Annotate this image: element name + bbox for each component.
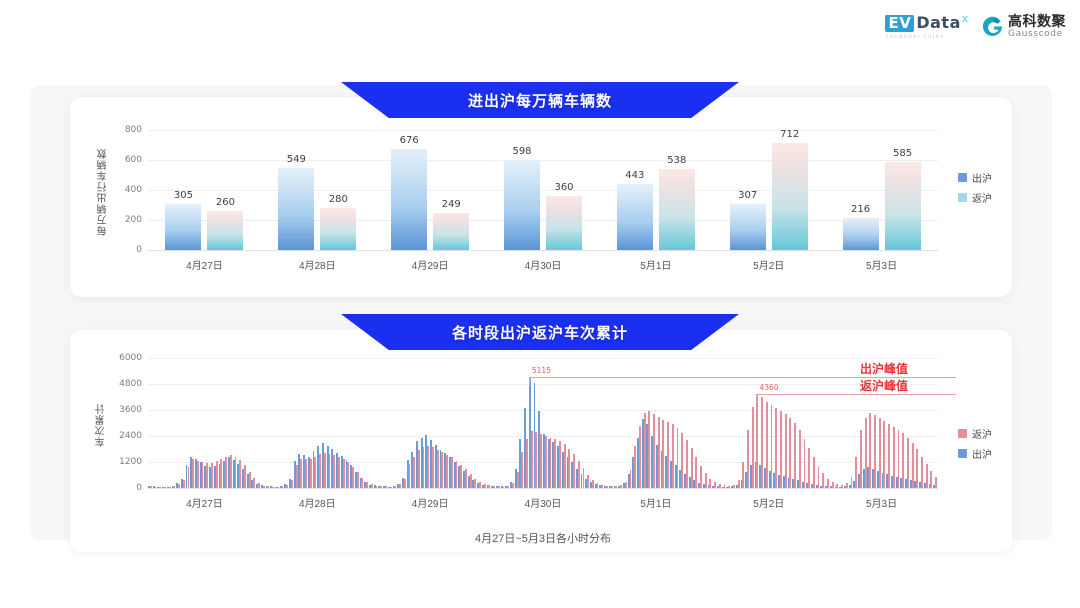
chart2-bar-back[interactable] bbox=[630, 470, 632, 488]
chart1-x-tick-label: 4月28日 bbox=[299, 257, 336, 272]
chart2-bar-back[interactable] bbox=[324, 453, 326, 488]
chart1-title-banner: 进出沪每万辆车辆数 bbox=[341, 82, 739, 118]
chart2-bar-back[interactable] bbox=[296, 465, 298, 488]
chart1-x-tick-label: 5月3日 bbox=[866, 257, 897, 272]
chart2-bar-back[interactable] bbox=[409, 464, 411, 488]
chart2-y-axis-label: 车次累计 bbox=[94, 360, 109, 490]
chart2-bar-back[interactable] bbox=[361, 478, 363, 488]
chart2-y-tick-label: 2400 bbox=[119, 431, 142, 441]
chart2-bar-back[interactable] bbox=[277, 487, 279, 488]
chart2-bar-back[interactable] bbox=[568, 449, 570, 488]
chart2-axis-baseline bbox=[148, 488, 938, 489]
chart2-bar-back[interactable] bbox=[357, 472, 359, 488]
chart1-axis-baseline bbox=[148, 250, 938, 251]
gausscode-name-en: Gausscode bbox=[1008, 30, 1066, 39]
chart2-bar-back[interactable] bbox=[432, 447, 434, 488]
chart2-bar-back[interactable] bbox=[691, 448, 693, 488]
chart1-bar[interactable]: 538 bbox=[659, 169, 695, 250]
chart1-y-tick-label: 400 bbox=[125, 185, 142, 195]
chart2-bar-back[interactable] bbox=[399, 484, 401, 488]
chart2-bar-back[interactable] bbox=[742, 462, 744, 488]
chart1-legend-swatch bbox=[958, 173, 967, 182]
chart2-bar-back[interactable] bbox=[211, 463, 213, 488]
chart2-bar-back[interactable] bbox=[441, 452, 443, 488]
chart2-bar-back[interactable] bbox=[550, 438, 552, 488]
chart1-bar[interactable]: 549 bbox=[278, 168, 314, 250]
chart2-bar-back[interactable] bbox=[916, 449, 918, 488]
gausscode-text: 高科数聚 Gausscode bbox=[1008, 14, 1066, 39]
chart1-gridline bbox=[148, 160, 938, 161]
chart2-bar-back[interactable] bbox=[427, 446, 429, 488]
chart1-bar[interactable]: 280 bbox=[320, 208, 356, 250]
chart2-bar-back[interactable] bbox=[413, 457, 415, 488]
chart2-bar-back[interactable] bbox=[512, 483, 514, 488]
chart2-bar-back[interactable] bbox=[930, 471, 932, 488]
chart2-legend-label: 出沪 bbox=[972, 446, 992, 461]
chart2-bar-back[interactable] bbox=[564, 444, 566, 488]
chart2-bar-back[interactable] bbox=[592, 480, 594, 488]
chart2-peak-label: 返沪峰值 bbox=[860, 377, 908, 394]
chart2-bar-back[interactable] bbox=[841, 485, 843, 488]
chart2-bar-back[interactable] bbox=[286, 485, 288, 488]
chart2-legend-item[interactable]: 出沪 bbox=[958, 446, 992, 461]
chart2-bar-back[interactable] bbox=[756, 394, 758, 488]
chart2-bar-back[interactable] bbox=[385, 486, 387, 488]
chart1-legend-label: 返沪 bbox=[972, 190, 992, 205]
chart2-bar-back[interactable] bbox=[634, 446, 636, 488]
chart2-bar-back[interactable] bbox=[474, 479, 476, 488]
chart2-bar-back[interactable] bbox=[615, 486, 617, 488]
chart2-x-tick-label: 4月30日 bbox=[525, 495, 562, 510]
chart2-bar-back[interactable] bbox=[709, 479, 711, 488]
chart1-bar-value-label: 216 bbox=[851, 204, 870, 215]
chart2-bar-back[interactable] bbox=[860, 430, 862, 488]
chart2-bar-back[interactable] bbox=[404, 479, 406, 488]
evdata-logo-subtitle: SHANGHAI CHINA bbox=[885, 34, 944, 39]
chart2-bar-back[interactable] bbox=[380, 486, 382, 488]
chart2-bar-back[interactable] bbox=[531, 431, 533, 488]
chart1-bar[interactable]: 598 bbox=[504, 160, 540, 250]
gausscode-name-cn: 高科数聚 bbox=[1008, 14, 1066, 28]
chart2-x-tick-label: 5月3日 bbox=[866, 495, 897, 510]
chart2-bar-back[interactable] bbox=[597, 483, 599, 488]
chart2-bar-back[interactable] bbox=[225, 457, 227, 488]
chart1-plot-area: 02004006008003052604月27日5492804月28日67624… bbox=[148, 130, 938, 250]
chart2-bar-back[interactable] bbox=[239, 460, 241, 488]
chart1-gridline bbox=[148, 220, 938, 221]
chart1-card: 02004006008003052604月27日5492804月28日67624… bbox=[70, 97, 1012, 297]
chart2-bar-back[interactable] bbox=[329, 454, 331, 488]
chart2-bar-back[interactable] bbox=[855, 457, 857, 488]
chart1-bar-value-label: 249 bbox=[442, 199, 461, 210]
chart2-bar-back[interactable] bbox=[879, 418, 881, 488]
chart1-legend-item[interactable]: 出沪 bbox=[958, 170, 992, 185]
chart2-bar-back[interactable] bbox=[639, 426, 641, 488]
chart1-bar[interactable]: 585 bbox=[885, 162, 921, 250]
chart2-title-banner: 各时段出沪返沪车次累计 bbox=[341, 314, 739, 350]
chart2-bar-back[interactable] bbox=[188, 467, 190, 488]
chart2-y-tick-label: 6000 bbox=[119, 353, 142, 363]
chart2-bar-back[interactable] bbox=[559, 441, 561, 488]
chart2-bar-back[interactable] bbox=[907, 438, 909, 488]
chart2-bar-back[interactable] bbox=[263, 486, 265, 488]
chart2-bar-back[interactable] bbox=[282, 486, 284, 488]
chart2-bar-back[interactable] bbox=[583, 468, 585, 488]
chart2-bar-back[interactable] bbox=[822, 473, 824, 488]
chart2-bar-back[interactable] bbox=[249, 472, 251, 488]
chart1-bar-value-label: 443 bbox=[625, 170, 644, 181]
chart2-bar-back[interactable] bbox=[347, 462, 349, 488]
evdata-logo-x-icon: x bbox=[962, 15, 968, 24]
chart2-bar-back[interactable] bbox=[253, 478, 255, 488]
chart1-gridline bbox=[148, 190, 938, 191]
chart2-bar-back[interactable] bbox=[446, 455, 448, 488]
chart1-x-tick-label: 5月2日 bbox=[753, 257, 784, 272]
chart2-bar-back[interactable] bbox=[902, 433, 904, 488]
chart2-y-tick-label: 0 bbox=[136, 483, 142, 493]
chart2-bar-back[interactable] bbox=[761, 397, 763, 488]
chart2-bar-back[interactable] bbox=[686, 440, 688, 488]
chart2-bar-back[interactable] bbox=[921, 457, 923, 488]
chart2-bar-back[interactable] bbox=[465, 469, 467, 488]
chart2-bar-back[interactable] bbox=[724, 485, 726, 488]
chart1-bar-value-label: 360 bbox=[554, 182, 573, 193]
chart2-bar-back[interactable] bbox=[507, 486, 509, 488]
chart1-x-tick-label: 5月1日 bbox=[640, 257, 671, 272]
chart2-bar-back[interactable] bbox=[470, 474, 472, 488]
chart2-bar-back[interactable] bbox=[343, 459, 345, 488]
chart2-bar-back[interactable] bbox=[865, 418, 867, 488]
chart2-peak-label: 出沪峰值 bbox=[860, 360, 908, 377]
chart2-bar-back[interactable] bbox=[818, 466, 820, 488]
chart2-bar-back[interactable] bbox=[780, 411, 782, 488]
chart2-bar-back[interactable] bbox=[728, 486, 730, 488]
chart2-peak-value: 4360 bbox=[759, 383, 778, 392]
chart2-bar-back[interactable] bbox=[766, 402, 768, 488]
chart2-bar-back[interactable] bbox=[672, 424, 674, 488]
chart2-bar-back[interactable] bbox=[620, 485, 622, 488]
chart1-bar[interactable]: 712 bbox=[772, 143, 808, 250]
chart2-bar-back[interactable] bbox=[503, 487, 505, 488]
chart2-bar-back[interactable] bbox=[460, 465, 462, 488]
chart2-bar-back[interactable] bbox=[874, 415, 876, 488]
chart2-bar-back[interactable] bbox=[808, 448, 810, 488]
chart2-legend-label: 返沪 bbox=[972, 426, 992, 441]
chart2-bar-back[interactable] bbox=[310, 459, 312, 488]
chart1-y-tick-label: 600 bbox=[125, 155, 142, 165]
chart2-bar-back[interactable] bbox=[244, 465, 246, 488]
chart2-bar-back[interactable] bbox=[695, 457, 697, 488]
chart1-bar-value-label: 585 bbox=[893, 148, 912, 159]
chart1-legend[interactable]: 出沪返沪 bbox=[958, 170, 992, 205]
chart2-bar-back[interactable] bbox=[164, 487, 166, 488]
chart2-bar-back[interactable] bbox=[926, 464, 928, 488]
chart2-bar-back[interactable] bbox=[554, 439, 556, 488]
chart1-x-tick-label: 4月27日 bbox=[186, 257, 223, 272]
chart2-bar-back[interactable] bbox=[498, 486, 500, 488]
chart2-bar-back[interactable] bbox=[898, 430, 900, 488]
chart2-bar-back[interactable] bbox=[159, 487, 161, 488]
chart2-bar-back[interactable] bbox=[893, 427, 895, 488]
chart2-bar-back[interactable] bbox=[752, 407, 754, 488]
chart1-bar[interactable]: 216 bbox=[843, 218, 879, 250]
chart1-y-tick-label: 0 bbox=[136, 245, 142, 255]
chart2-x-tick-label: 4月27日 bbox=[186, 495, 223, 510]
chart1-bar-value-label: 307 bbox=[738, 190, 757, 201]
chart2-bar-back[interactable] bbox=[521, 452, 523, 488]
chart1-y-tick-label: 200 bbox=[125, 215, 142, 225]
chart1-bar[interactable]: 307 bbox=[730, 204, 766, 250]
chart2-bar-back[interactable] bbox=[371, 484, 373, 488]
chart2-bar-back[interactable] bbox=[418, 450, 420, 488]
chart2-bar-back[interactable] bbox=[169, 487, 171, 488]
chart2-bar-back[interactable] bbox=[799, 430, 801, 488]
chart2-bar-back[interactable] bbox=[625, 482, 627, 488]
chart2-bar-back[interactable] bbox=[606, 486, 608, 488]
chart1-legend-swatch bbox=[958, 193, 967, 202]
chart2-bar-back[interactable] bbox=[155, 487, 157, 488]
evdata-logo-wordmark: EV Data x bbox=[885, 15, 968, 32]
chart1-bar-value-label: 538 bbox=[667, 155, 686, 166]
chart2-y-tick-label: 3600 bbox=[119, 405, 142, 415]
chart2-bar-back[interactable] bbox=[376, 486, 378, 488]
chart2-bar-back[interactable] bbox=[394, 486, 396, 488]
chart2-bar-back[interactable] bbox=[267, 486, 269, 488]
chart2-plot-area: 0120024003600480060004月27日4月28日4月29日4月30… bbox=[148, 358, 938, 488]
chart2-bar-back[interactable] bbox=[300, 459, 302, 488]
chart1-bar-value-label: 676 bbox=[400, 135, 419, 146]
chart2-bar-back[interactable] bbox=[479, 482, 481, 488]
evdata-logo-data: Data bbox=[916, 15, 961, 31]
chart2-bar-back[interactable] bbox=[305, 459, 307, 488]
chart2-bar-back[interactable] bbox=[573, 454, 575, 488]
chart2-bar-back[interactable] bbox=[644, 413, 646, 488]
chart2-gridline bbox=[148, 384, 938, 385]
chart2-bar-back[interactable] bbox=[150, 486, 152, 488]
chart2-bar-back[interactable] bbox=[484, 484, 486, 488]
chart2-bar-back[interactable] bbox=[648, 411, 650, 488]
chart2-bar-back[interactable] bbox=[611, 486, 613, 488]
chart2-bar-back[interactable] bbox=[178, 484, 180, 488]
chart2-bar-back[interactable] bbox=[888, 424, 890, 488]
chart2-bar-back[interactable] bbox=[912, 443, 914, 488]
chart1-bar-value-label: 598 bbox=[512, 146, 531, 157]
chart2-bar-back[interactable] bbox=[535, 432, 537, 488]
chart2-bar-back[interactable] bbox=[578, 461, 580, 488]
chart2-bar-back[interactable] bbox=[220, 459, 222, 488]
chart2-card: 0120024003600480060004月27日4月28日4月29日4月30… bbox=[70, 330, 1012, 552]
page-header: EV Data x SHANGHAI CHINA 高科数聚 Gausscode bbox=[0, 0, 1080, 62]
chart2-bar-back[interactable] bbox=[677, 428, 679, 488]
chart2-bar-back[interactable] bbox=[794, 423, 796, 488]
chart2-bar-back[interactable] bbox=[206, 463, 208, 488]
chart2-bar-back[interactable] bbox=[869, 413, 871, 488]
gausscode-logo-icon: 高科数聚 Gausscode bbox=[982, 14, 1066, 39]
chart2-bar-back[interactable] bbox=[705, 473, 707, 488]
chart2-bar-back[interactable] bbox=[935, 477, 937, 488]
chart2-bar-back[interactable] bbox=[451, 457, 453, 488]
chart2-bar-back[interactable] bbox=[319, 454, 321, 488]
chart2-legend[interactable]: 返沪出沪 bbox=[958, 426, 992, 461]
chart2-bar-back[interactable] bbox=[493, 486, 495, 488]
chart2-bar-back[interactable] bbox=[488, 485, 490, 488]
chart2-bar-back[interactable] bbox=[173, 486, 175, 488]
chart2-bar-back[interactable] bbox=[789, 418, 791, 488]
chart2-bar-back[interactable] bbox=[883, 421, 885, 488]
chart1-bar[interactable]: 249 bbox=[433, 213, 469, 250]
chart2-bar-back[interactable] bbox=[258, 483, 260, 488]
chart2-gridline bbox=[148, 410, 938, 411]
chart2-bar-back[interactable] bbox=[235, 457, 237, 488]
chart1-bar[interactable]: 260 bbox=[207, 211, 243, 250]
chart2-bar-back[interactable] bbox=[390, 487, 392, 488]
chart1-y-tick-label: 800 bbox=[125, 125, 142, 135]
chart2-bar-back[interactable] bbox=[517, 472, 519, 488]
chart2-peak-tick bbox=[529, 377, 530, 386]
chart2-bar-back[interactable] bbox=[775, 408, 777, 488]
chart2-peak-tick bbox=[756, 394, 757, 403]
chart2-bar-back[interactable] bbox=[738, 480, 740, 488]
chart2-legend-item[interactable]: 返沪 bbox=[958, 426, 992, 441]
chart1-bar-value-label: 549 bbox=[287, 154, 306, 165]
chart2-bar-back[interactable] bbox=[437, 450, 439, 488]
chart1-bar[interactable]: 305 bbox=[165, 204, 201, 250]
chart2-bar-back[interactable] bbox=[216, 461, 218, 488]
chart2-bar-back[interactable] bbox=[733, 485, 735, 488]
chart2-bar-back[interactable] bbox=[658, 417, 660, 488]
chart2-bar-back[interactable] bbox=[832, 482, 834, 488]
chart1-bar-value-label: 712 bbox=[780, 129, 799, 140]
chart2-bar-back[interactable] bbox=[338, 457, 340, 488]
chart2-bar-back[interactable] bbox=[714, 482, 716, 488]
chart2-bar-back[interactable] bbox=[653, 414, 655, 488]
chart2-bar-back[interactable] bbox=[601, 485, 603, 488]
chart2-bar-back[interactable] bbox=[526, 439, 528, 488]
chart2-bar-back[interactable] bbox=[456, 461, 458, 488]
chart2-bar-back[interactable] bbox=[827, 479, 829, 488]
chart2-bar-back[interactable] bbox=[836, 484, 838, 488]
chart1-legend-label: 出沪 bbox=[972, 170, 992, 185]
evdata-logo-ev: EV bbox=[885, 15, 914, 32]
chart1-bar-value-label: 305 bbox=[174, 190, 193, 201]
chart2-bar-back[interactable] bbox=[230, 455, 232, 488]
chart2-bar-back[interactable] bbox=[352, 467, 354, 488]
chart2-bar-back[interactable] bbox=[183, 480, 185, 488]
chart2-bar-back[interactable] bbox=[366, 482, 368, 488]
chart2-legend-swatch bbox=[958, 449, 967, 458]
chart2-bar-back[interactable] bbox=[662, 420, 664, 488]
chart2-peak-line bbox=[756, 394, 956, 395]
chart1-gridline bbox=[148, 130, 938, 131]
chart1-x-tick-label: 4月30日 bbox=[525, 257, 562, 272]
chart2-bar-back[interactable] bbox=[700, 466, 702, 488]
chart2-bar-back[interactable] bbox=[785, 414, 787, 488]
chart1-x-tick-label: 4月29日 bbox=[412, 257, 449, 272]
chart2-bar-back[interactable] bbox=[587, 475, 589, 488]
chart2-bar-back[interactable] bbox=[291, 480, 293, 488]
chart2-x-tick-label: 4月29日 bbox=[412, 495, 449, 510]
chart2-bar-back[interactable] bbox=[804, 439, 806, 488]
chart2-bar-back[interactable] bbox=[719, 484, 721, 488]
chart2-y-tick-label: 4800 bbox=[119, 379, 142, 389]
chart2-legend-swatch bbox=[958, 429, 967, 438]
chart1-bar[interactable]: 360 bbox=[546, 196, 582, 250]
chart2-bar-back[interactable] bbox=[851, 477, 853, 488]
chart2-x-axis-caption: 4月27日~5月3日各小时分布 bbox=[475, 530, 611, 546]
chart2-bar-back[interactable] bbox=[314, 457, 316, 488]
evdata-logo-icon: EV Data x SHANGHAI CHINA bbox=[885, 15, 968, 39]
chart2-bar-back[interactable] bbox=[667, 422, 669, 488]
chart1-bar-value-label: 260 bbox=[216, 197, 235, 208]
chart2-x-tick-label: 5月1日 bbox=[640, 495, 671, 510]
chart2-bar-back[interactable] bbox=[681, 433, 683, 488]
chart2-bar-back[interactable] bbox=[813, 457, 815, 488]
gausscode-mark-icon bbox=[982, 16, 1003, 37]
chart1-bar[interactable]: 676 bbox=[391, 149, 427, 250]
chart2-bar-back[interactable] bbox=[202, 462, 204, 488]
chart2-bar-back[interactable] bbox=[846, 483, 848, 488]
chart2-bar-back[interactable] bbox=[545, 436, 547, 488]
chart2-bar-back[interactable] bbox=[192, 459, 194, 488]
chart2-bar-back[interactable] bbox=[272, 487, 274, 488]
chart2-x-tick-label: 5月2日 bbox=[753, 495, 784, 510]
chart2-x-tick-label: 4月28日 bbox=[299, 495, 336, 510]
logo-group: EV Data x SHANGHAI CHINA 高科数聚 Gausscode bbox=[885, 14, 1066, 39]
chart1-bar-value-label: 280 bbox=[329, 194, 348, 205]
chart1-y-axis-label: 每万辆出行车辆数 bbox=[96, 132, 111, 252]
chart2-bar-back[interactable] bbox=[540, 434, 542, 488]
chart2-peak-value: 5115 bbox=[532, 366, 551, 375]
chart2-bar-back[interactable] bbox=[771, 405, 773, 488]
chart1-bar[interactable]: 443 bbox=[617, 184, 653, 250]
chart1-legend-item[interactable]: 返沪 bbox=[958, 190, 992, 205]
chart2-bar-back[interactable] bbox=[747, 430, 749, 488]
chart2-bar-back[interactable] bbox=[423, 447, 425, 488]
chart2-y-tick-label: 1200 bbox=[119, 457, 142, 467]
chart2-bar-back[interactable] bbox=[197, 461, 199, 488]
chart2-gridline bbox=[148, 358, 938, 359]
chart2-bar-back[interactable] bbox=[333, 455, 335, 488]
